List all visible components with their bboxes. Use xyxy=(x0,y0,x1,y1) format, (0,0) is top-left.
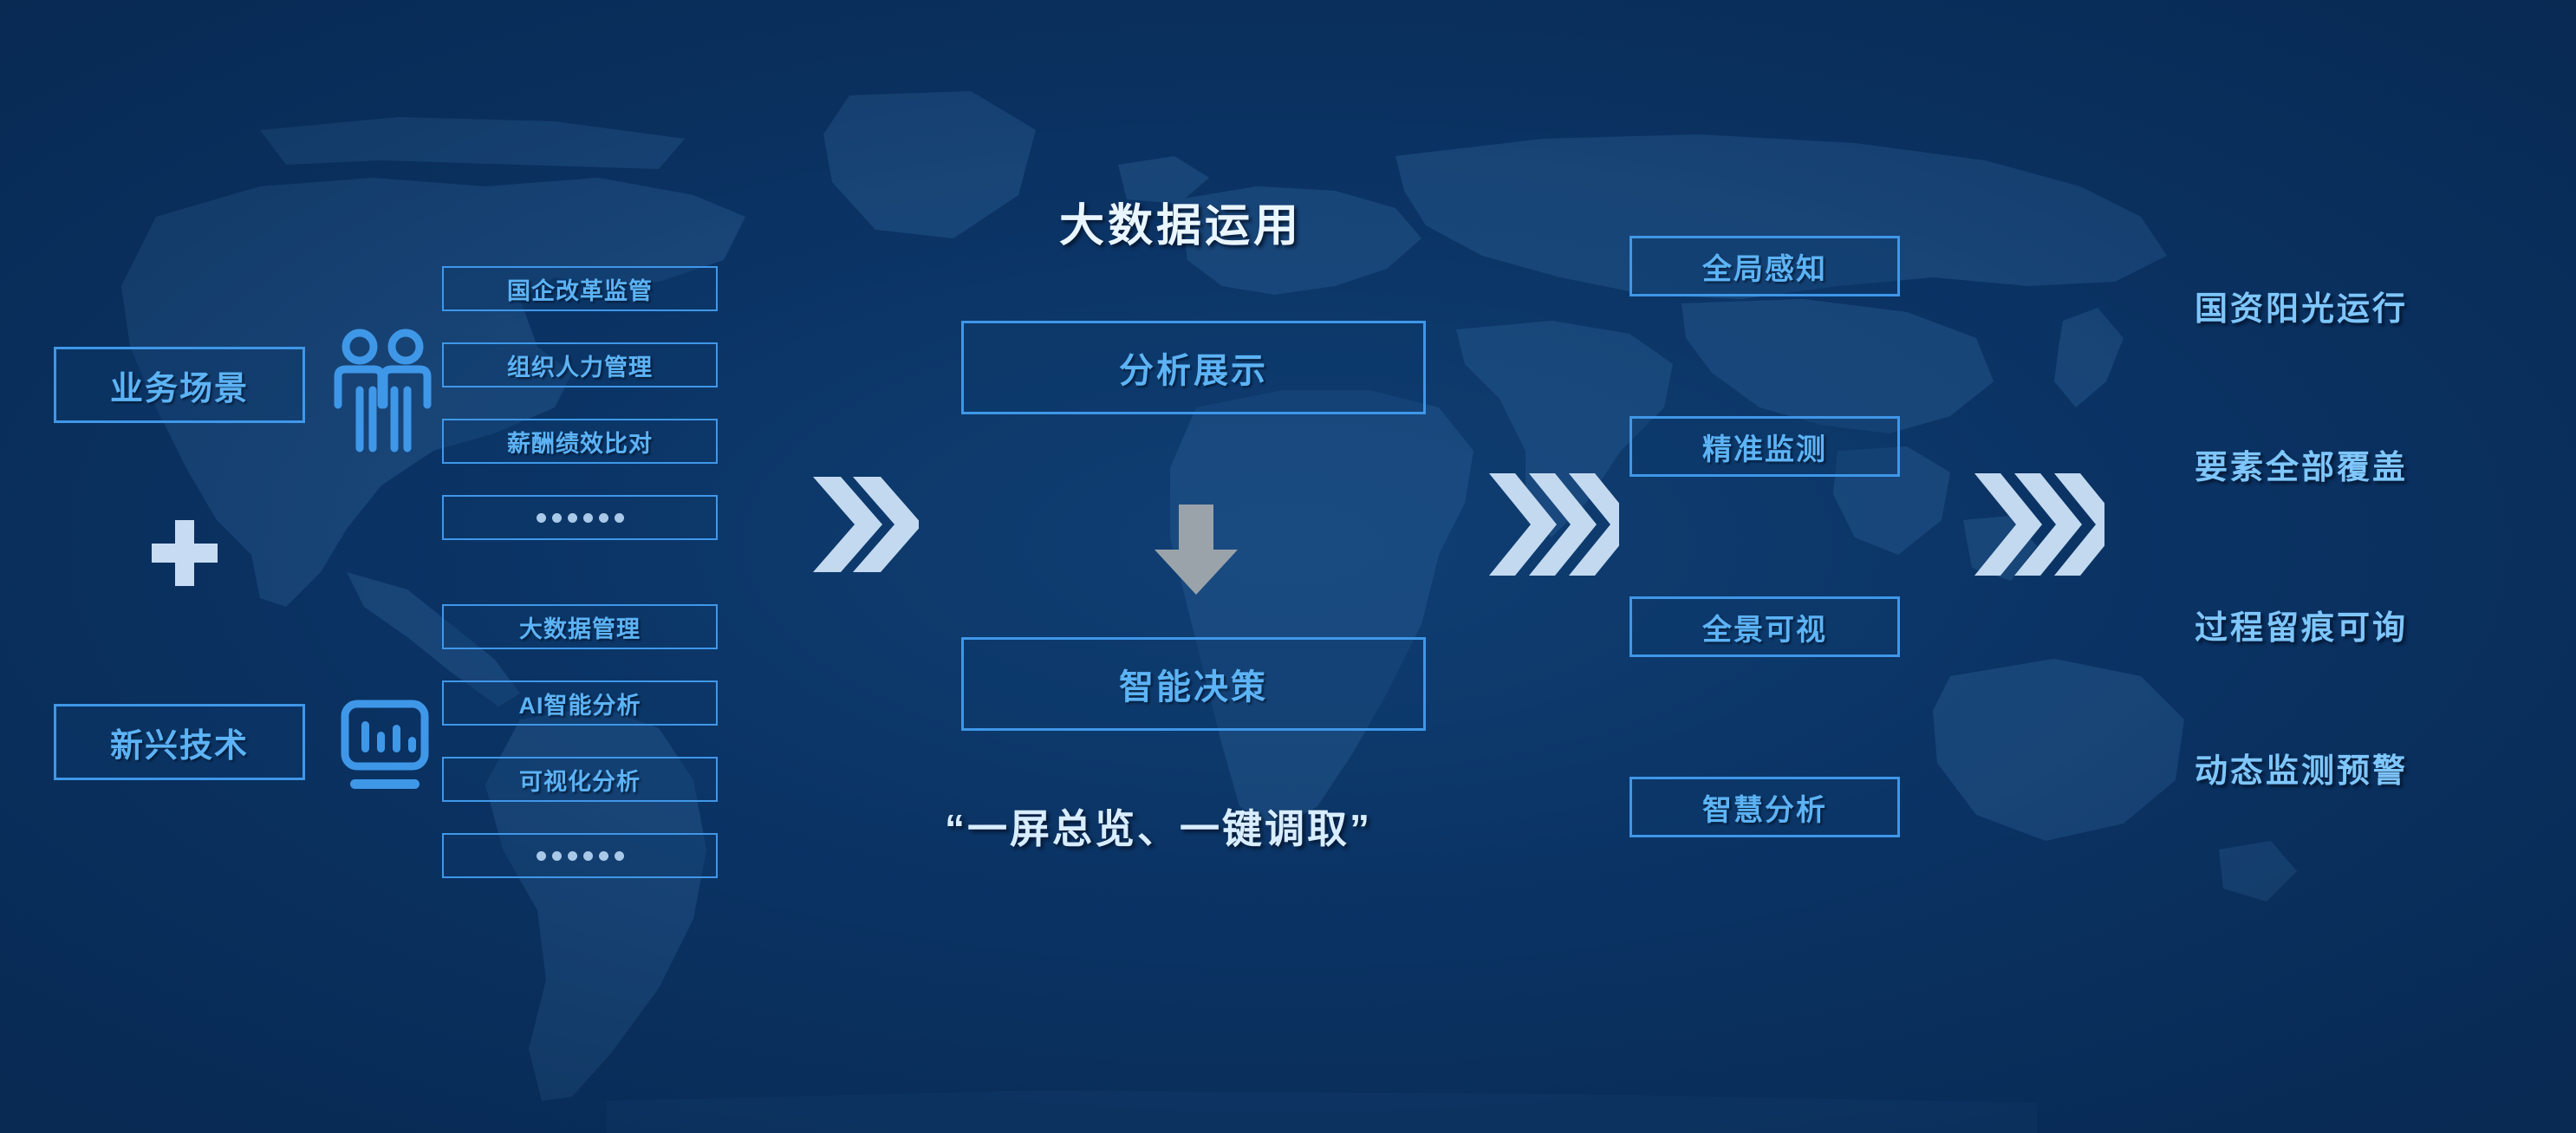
world-map-background xyxy=(0,0,2576,1133)
ellipsis-dot-icon xyxy=(552,513,562,523)
center-box-intelligent-decision[interactable]: 智能决策 xyxy=(961,637,1426,731)
effect-box-label: 智慧分析 xyxy=(1702,786,1827,829)
ellipsis-dot-icon xyxy=(568,851,577,861)
input-box-label: 新兴技术 xyxy=(110,719,249,766)
flow-connector-3-triple-chevron-right-icon xyxy=(1974,466,2104,583)
center-box-analysis-display[interactable]: 分析展示 xyxy=(961,321,1426,414)
capability-chip-org-hr-management[interactable]: 组织人力管理 xyxy=(442,342,718,387)
ellipsis-dot-icon xyxy=(615,851,624,861)
input-box-label: 业务场景 xyxy=(110,361,249,409)
ellipsis-dot-icon xyxy=(583,851,593,861)
arrow-down-icon xyxy=(1150,501,1242,602)
ellipsis-dot-icon xyxy=(615,513,624,523)
outcome-text-full-factor-coverage: 要素全部覆盖 xyxy=(2195,440,2408,488)
chip-label: 可视化分析 xyxy=(519,763,641,797)
effect-box-label: 精准监测 xyxy=(1702,426,1827,468)
people-icon xyxy=(331,322,435,457)
effect-box-smart-analysis[interactable]: 智慧分析 xyxy=(1630,777,1900,837)
capability-chip-big-data-management[interactable]: 大数据管理 xyxy=(442,604,718,649)
chip-label: 薪酬绩效比对 xyxy=(507,425,653,459)
flow-connector-1-double-chevron-right-icon xyxy=(806,468,919,581)
ellipsis-dot-icon xyxy=(583,513,593,523)
center-slogan: “一屏总览、一键调取” xyxy=(945,798,1372,855)
ellipsis-dot-icon xyxy=(537,851,546,861)
effect-box-precise-monitoring[interactable]: 精准监测 xyxy=(1630,416,1900,477)
ellipsis-dot-icon xyxy=(552,851,562,861)
page-title: 大数据运用 xyxy=(1059,189,1302,254)
bar-chart-monitor-icon xyxy=(340,699,430,804)
ellipsis-dot-icon xyxy=(599,851,608,861)
effect-box-label: 全局感知 xyxy=(1702,245,1827,288)
capability-chip-technology-more[interactable] xyxy=(442,833,718,878)
chip-label: AI智能分析 xyxy=(519,687,641,720)
capability-chip-pay-performance-compare[interactable]: 薪酬绩效比对 xyxy=(442,419,718,464)
center-box-label: 智能决策 xyxy=(1119,659,1268,709)
outcome-text-traceable-process: 过程留痕可询 xyxy=(2195,601,2408,648)
ellipsis-dot-icon xyxy=(568,513,577,523)
center-box-label: 分析展示 xyxy=(1119,342,1268,393)
chip-label: 大数据管理 xyxy=(519,610,641,644)
chip-label: 组织人力管理 xyxy=(507,348,653,382)
input-box-emerging-technology[interactable]: 新兴技术 xyxy=(54,704,305,780)
slide-canvas: 业务场景 新兴技术 xyxy=(0,0,2576,1133)
capability-chip-business-more[interactable] xyxy=(442,495,718,540)
capability-chip-ai-analysis[interactable]: AI智能分析 xyxy=(442,680,718,726)
ellipsis-dot-icon xyxy=(537,513,546,523)
outcome-text-transparent-operation: 国资阳光运行 xyxy=(2195,282,2408,329)
effect-box-label: 全景可视 xyxy=(1702,606,1827,648)
capability-chip-soe-reform-supervision[interactable]: 国企改革监管 xyxy=(442,266,718,311)
outcome-text-dynamic-alert: 动态监测预警 xyxy=(2195,744,2408,791)
capability-chip-visual-analysis[interactable]: 可视化分析 xyxy=(442,757,718,802)
background-vignette xyxy=(0,0,2576,1133)
input-box-business-scenario[interactable]: 业务场景 xyxy=(54,347,305,423)
plus-symbol-icon xyxy=(152,520,218,586)
flow-connector-2-triple-chevron-right-icon xyxy=(1489,466,1619,583)
effect-box-panoramic-visibility[interactable]: 全景可视 xyxy=(1630,596,1900,657)
ellipsis-dot-icon xyxy=(599,513,608,523)
effect-box-global-awareness[interactable]: 全局感知 xyxy=(1630,236,1900,296)
chip-label: 国企改革监管 xyxy=(507,272,653,306)
